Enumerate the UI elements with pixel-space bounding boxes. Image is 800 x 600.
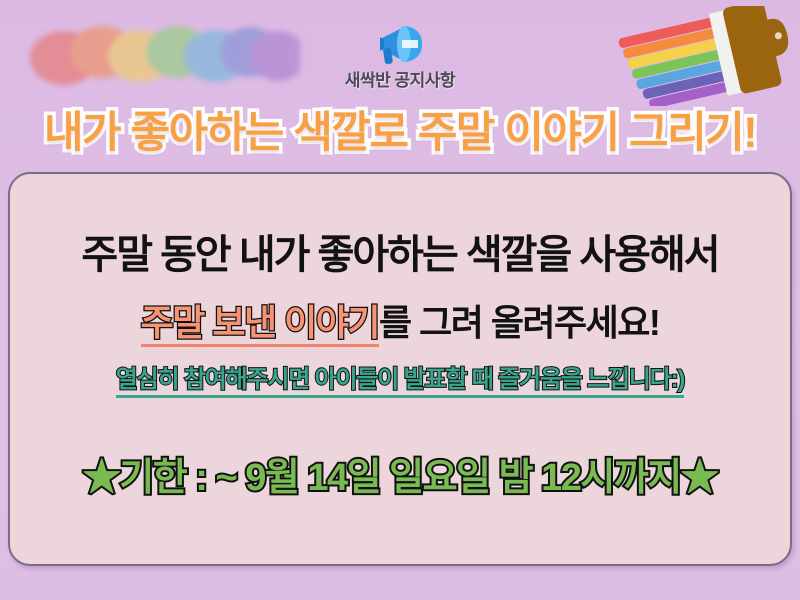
poster-title: 내가 좋아하는 색깔로 주말 이야기 그리기! — [0, 98, 800, 160]
instruction-line-2: 주말 보낸 이야기를 그려 올려주세요! — [10, 294, 790, 346]
deadline-line: ★기한 : ~ 9월 14일 일요일 밤 12시까지★ — [10, 446, 790, 501]
star-left-icon: ★ — [83, 457, 120, 499]
announcement-card: 주말 동안 내가 좋아하는 색깔을 사용해서 주말 보낸 이야기를 그려 올려주… — [8, 172, 792, 566]
star-right-icon: ★ — [681, 457, 718, 499]
instruction-line-2-rest: 를 그려 올려주세요! — [379, 302, 659, 343]
instruction-line-1: 주말 동안 내가 좋아하는 색깔을 사용해서 — [10, 222, 790, 280]
encouragement-text: 열심히 참여해주시면 아이들이 발표할 때 즐거움을 느낍니다:) — [116, 366, 684, 398]
header-decoration-area: 새싹반 공지사항 — [0, 0, 800, 108]
highlighted-task-text: 주말 보낸 이야기 — [141, 302, 379, 347]
poster-subtitle: 새싹반 공지사항 — [0, 66, 800, 91]
poster-canvas: 새싹반 공지사항 내가 좋아하는 색깔로 주말 이야기 그리기! 주말 동안 내… — [0, 0, 800, 600]
deadline-text: 기한 : ~ 9월 14일 일요일 밤 12시까지 — [119, 457, 680, 499]
instruction-line-3: 열심히 참여해주시면 아이들이 발표할 때 즐거움을 느낍니다:) — [10, 359, 790, 394]
megaphone-icon — [368, 18, 432, 72]
paintbrush-icon — [616, 6, 792, 106]
